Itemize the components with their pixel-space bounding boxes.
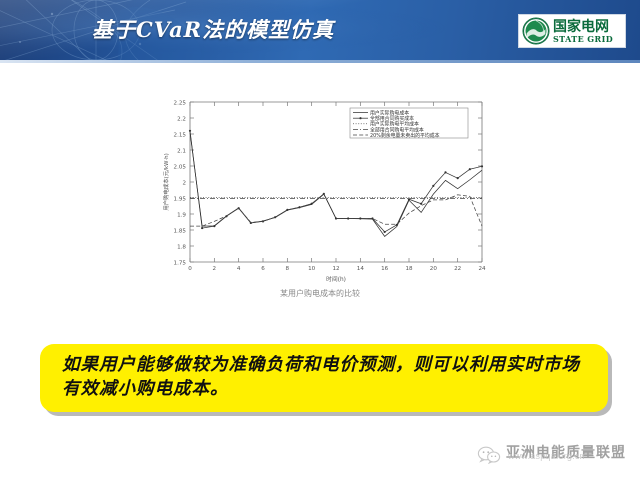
svg-text:20%剩余电量未卖出的平均成本: 20%剩余电量未卖出的平均成本 [370,132,440,139]
page-title: 基于CVaR法的模型仿真 [92,14,334,44]
svg-text:2.2: 2.2 [177,117,186,123]
watermark-url: www.aspqa.org.cn [508,451,585,461]
callout-text: 如果用户能够做较为准确负荷和电价预测，则可以利用实时市场有效减小购电成本。 [62,354,586,401]
logo-name-cn: 国家电网 [553,20,613,34]
figure-caption: 某用户购电成本的比较 [150,288,490,299]
svg-text:1.95: 1.95 [174,197,187,203]
logo-text-block: 国家电网 STATE GRID [553,20,613,43]
svg-text:18: 18 [405,266,413,272]
svg-text:4: 4 [237,266,241,272]
svg-text:2: 2 [182,181,186,187]
svg-text:2.15: 2.15 [174,133,187,139]
svg-text:22: 22 [454,266,461,272]
state-grid-logo: 国家电网 STATE GRID [518,14,626,48]
svg-text:24: 24 [478,266,486,272]
watermark: 亚洲电能质量联盟 www.aspqa.org.cn [477,442,626,468]
svg-text:2.1: 2.1 [177,149,186,155]
svg-text:6: 6 [261,266,265,272]
conclusion-callout: 如果用户能够做较为准确负荷和电价预测，则可以利用实时市场有效减小购电成本。 [40,344,608,412]
svg-text:16: 16 [381,266,389,272]
svg-text:1.75: 1.75 [174,261,187,267]
slide-header: 基于CVaR法的模型仿真 国家电网 STATE GRID [0,0,640,62]
header-divider [0,60,640,63]
svg-text:2.05: 2.05 [174,165,187,171]
svg-text:1.9: 1.9 [177,213,186,219]
svg-text:1.8: 1.8 [177,245,186,251]
svg-text:0: 0 [188,266,192,272]
state-grid-emblem-icon [522,17,550,45]
svg-text:用户购电成本(元/kW·h): 用户购电成本(元/kW·h) [162,153,170,210]
svg-text:2: 2 [213,266,217,272]
svg-text:20: 20 [430,266,438,272]
svg-text:10: 10 [308,266,316,272]
svg-text:12: 12 [332,266,339,272]
logo-name-en: STATE GRID [553,35,613,43]
svg-text:14: 14 [357,266,365,272]
cost-comparison-chart: 1.751.81.851.91.9522.052.12.152.22.25024… [150,92,490,292]
wechat-icon [477,446,501,464]
svg-text:8: 8 [286,266,290,272]
watermark-text-block: 亚洲电能质量联盟 www.aspqa.org.cn [506,444,626,466]
svg-text:1.85: 1.85 [174,229,187,235]
svg-text:时间(h): 时间(h) [326,275,346,283]
svg-text:2.25: 2.25 [174,101,187,107]
